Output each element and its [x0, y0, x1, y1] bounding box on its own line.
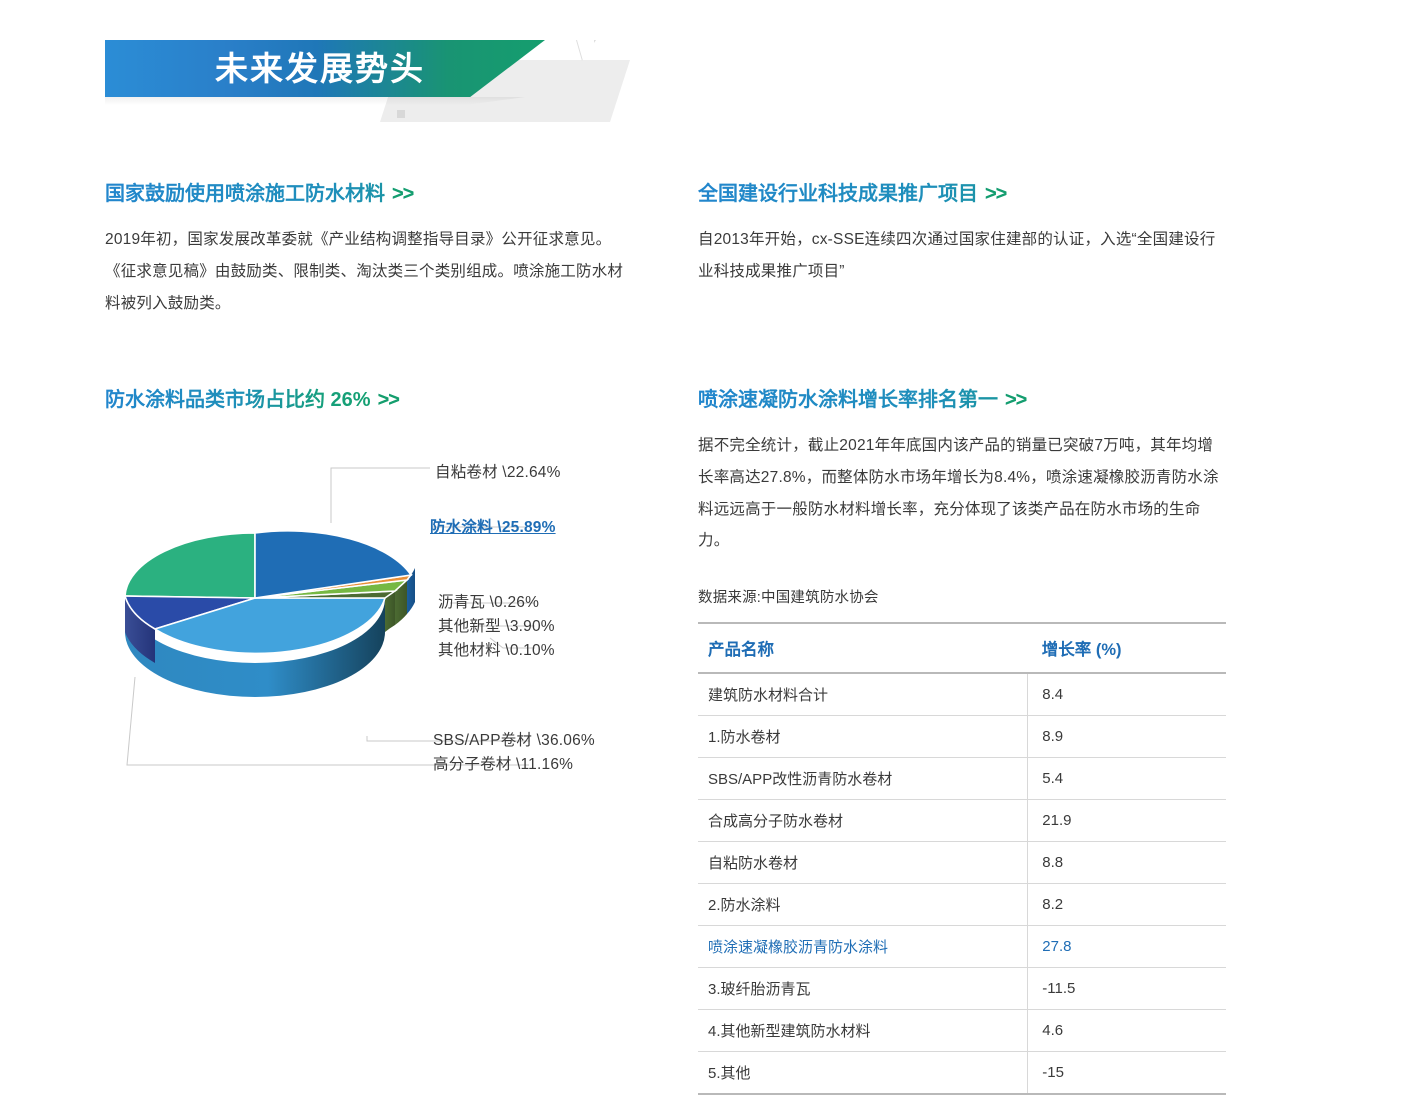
table-source-note: 数据来源:中国建筑防水协会 [698, 586, 879, 607]
table-body: 建筑防水材料合计8.41.防水卷材8.9SBS/APP改性沥青防水卷材5.4合成… [698, 673, 1226, 1094]
pie-label-zizhan: 自粘卷材 \22.64% [435, 460, 561, 482]
table-cell-product: 1.防水卷材 [698, 716, 1028, 758]
table-row: 自粘防水卷材8.8 [698, 842, 1226, 884]
pie-label-fangshuituliao: 防水涂料 \25.89% [430, 515, 556, 537]
table-cell-product: 合成高分子防水卷材 [698, 800, 1028, 842]
growth-rate-table: 产品名称 增长率 (%) 建筑防水材料合计8.41.防水卷材8.9SBS/APP… [698, 622, 1226, 1095]
section-heading-growth-rank[interactable]: 喷涂速凝防水涂料增长率排名第一>> [698, 388, 1226, 412]
section-national-promotion: 全国建设行业科技成果推广项目>> 自2013年开始，cx-SSE连续四次通过国家… [698, 182, 1226, 288]
chevron-double-right-icon: >> [392, 183, 413, 205]
table-cell-product: 喷涂速凝橡胶沥青防水涂料 [698, 926, 1028, 968]
section-heading-text: 喷涂速凝防水涂料增长率排名第一 [698, 389, 998, 411]
table-cell-growth: 21.9 [1028, 800, 1226, 842]
table-row: 3.玻纤胎沥青瓦-11.5 [698, 968, 1226, 1010]
chevron-double-right-icon: >> [378, 389, 399, 411]
section-heading-text: 全国建设行业科技成果推广项目 [698, 183, 978, 205]
table-cell-growth: 8.2 [1028, 884, 1226, 926]
banner-shadow [105, 97, 525, 105]
table-row: SBS/APP改性沥青防水卷材5.4 [698, 758, 1226, 800]
table-row: 2.防水涂料8.2 [698, 884, 1226, 926]
section-body-growth-rank: 据不完全统计，截止2021年年底国内该产品的销量已突破7万吨，其年均增长率高达2… [698, 430, 1226, 557]
table-cell-product: 3.玻纤胎沥青瓦 [698, 968, 1028, 1010]
table-cell-growth: 8.4 [1028, 673, 1226, 716]
page-header-banner: 未来发展势头 [0, 0, 1418, 150]
section-heading-text: 国家鼓励使用喷涂施工防水材料 [105, 183, 385, 205]
table-cell-product: SBS/APP改性沥青防水卷材 [698, 758, 1028, 800]
table-row: 1.防水卷材8.9 [698, 716, 1226, 758]
pie-label-liqingwa: 沥青瓦 \0.26% [438, 590, 539, 612]
table-cell-product: 建筑防水材料合计 [698, 673, 1028, 716]
section-heading-national-promotion[interactable]: 全国建设行业科技成果推广项目>> [698, 182, 1226, 206]
section-national-policy: 国家鼓励使用喷涂施工防水材料>> 2019年初，国家发展改革委就《产业结构调整指… [105, 182, 625, 319]
section-heading-text: 防水涂料品类市场占比约 26% [105, 389, 371, 411]
chevron-double-right-icon: >> [985, 183, 1006, 205]
pie-label-sbsapp: SBS/APP卷材 \36.06% [433, 728, 595, 750]
table-cell-product: 2.防水涂料 [698, 884, 1028, 926]
pie-label-qitacailiao: 其他材料 \0.10% [438, 638, 555, 660]
table-header-row: 产品名称 增长率 (%) [698, 623, 1226, 673]
table-cell-product: 4.其他新型建筑防水材料 [698, 1010, 1028, 1052]
table-cell-growth: 8.8 [1028, 842, 1226, 884]
column-header-growth: 增长率 (%) [1028, 623, 1226, 673]
table-cell-product: 5.其他 [698, 1052, 1028, 1095]
section-growth-rank: 喷涂速凝防水涂料增长率排名第一>> 据不完全统计，截止2021年年底国内该产品的… [698, 388, 1226, 557]
table-header: 产品名称 增长率 (%) [698, 623, 1226, 673]
section-heading-national-policy[interactable]: 国家鼓励使用喷涂施工防水材料>> [105, 182, 625, 206]
pie-label-qitaxinxing: 其他新型 \3.90% [438, 614, 555, 636]
table-row: 4.其他新型建筑防水材料4.6 [698, 1010, 1226, 1052]
section-heading-coating-market-share[interactable]: 防水涂料品类市场占比约 26%>> [105, 388, 399, 412]
table-row: 5.其他-15 [698, 1052, 1226, 1095]
table-cell-growth: 5.4 [1028, 758, 1226, 800]
section-body-national-promotion: 自2013年开始，cx-SSE连续四次通过国家住建部的认证，入选“全国建设行业科… [698, 224, 1226, 288]
chevron-double-right-icon: >> [1005, 389, 1026, 411]
table-cell-growth: 27.8 [1028, 926, 1226, 968]
table-row: 合成高分子防水卷材21.9 [698, 800, 1226, 842]
table-row: 建筑防水材料合计8.4 [698, 673, 1226, 716]
table-cell-growth: -15 [1028, 1052, 1226, 1095]
table-cell-growth: 8.9 [1028, 716, 1226, 758]
section-coating-market-share: 防水涂料品类市场占比约 26%>> [105, 388, 399, 412]
column-header-product: 产品名称 [698, 623, 1028, 673]
banner-title: 未来发展势头 [215, 40, 425, 97]
table-cell-product: 自粘防水卷材 [698, 842, 1028, 884]
pie-chart: 自粘卷材 \22.64% 防水涂料 \25.89% 沥青瓦 \0.26% 其他新… [105, 450, 650, 780]
pie-label-gaofenzi: 高分子卷材 \11.16% [433, 752, 573, 774]
section-body-national-policy: 2019年初，国家发展改革委就《产业结构调整指导目录》公开征求意见。《征求意见稿… [105, 224, 625, 319]
table-row: 喷涂速凝橡胶沥青防水涂料27.8 [698, 926, 1226, 968]
banner-decor-square [397, 110, 405, 118]
table-cell-growth: 4.6 [1028, 1010, 1226, 1052]
table-cell-growth: -11.5 [1028, 968, 1226, 1010]
